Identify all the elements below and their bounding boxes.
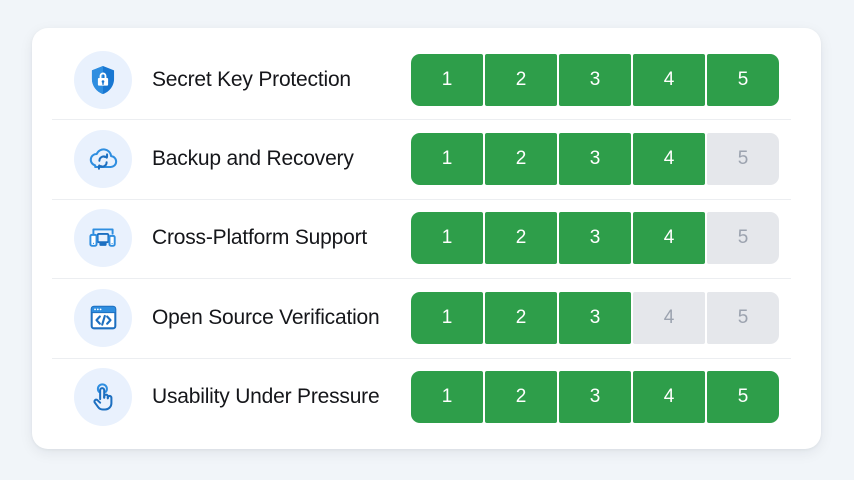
criteria-label: Open Source Verification xyxy=(152,306,411,330)
rating-scale: 12345 xyxy=(411,133,779,185)
rating-box[interactable]: 1 xyxy=(411,212,483,264)
rating-box[interactable]: 4 xyxy=(633,133,705,185)
rating-box[interactable]: 4 xyxy=(633,212,705,264)
rating-box[interactable]: 1 xyxy=(411,371,483,423)
rating-box[interactable]: 4 xyxy=(633,292,705,344)
rating-box[interactable]: 1 xyxy=(411,133,483,185)
criteria-label: Cross-Platform Support xyxy=(152,226,411,250)
rating-box[interactable]: 5 xyxy=(707,292,779,344)
rating-box[interactable]: 4 xyxy=(633,371,705,423)
criteria-label: Usability Under Pressure xyxy=(152,385,411,409)
rating-scale: 12345 xyxy=(411,292,779,344)
rating-box[interactable]: 2 xyxy=(485,54,557,106)
rating-box[interactable]: 3 xyxy=(559,292,631,344)
criteria-label: Secret Key Protection xyxy=(152,68,411,92)
code-window-icon xyxy=(74,289,132,347)
rating-box[interactable]: 5 xyxy=(707,54,779,106)
page-background: Secret Key Protection12345 Backup and Re… xyxy=(0,0,854,480)
rating-box[interactable]: 5 xyxy=(707,371,779,423)
criteria-rating-card: Secret Key Protection12345 Backup and Re… xyxy=(32,28,821,449)
cloud-sync-icon xyxy=(74,130,132,188)
rating-scale: 12345 xyxy=(411,371,779,423)
rating-scale: 12345 xyxy=(411,54,779,106)
rating-box[interactable]: 5 xyxy=(707,133,779,185)
hand-tap-icon xyxy=(74,368,132,426)
rating-box[interactable]: 5 xyxy=(707,212,779,264)
rating-box[interactable]: 3 xyxy=(559,371,631,423)
rating-box[interactable]: 3 xyxy=(559,54,631,106)
criteria-row: Usability Under Pressure12345 xyxy=(52,358,801,437)
criteria-label: Backup and Recovery xyxy=(152,147,411,171)
multi-device-icon xyxy=(74,209,132,267)
rating-box[interactable]: 1 xyxy=(411,54,483,106)
criteria-row: Backup and Recovery12345 xyxy=(52,119,801,198)
rating-box[interactable]: 2 xyxy=(485,292,557,344)
rating-box[interactable]: 2 xyxy=(485,371,557,423)
rating-box[interactable]: 1 xyxy=(411,292,483,344)
rating-box[interactable]: 3 xyxy=(559,212,631,264)
criteria-row: Cross-Platform Support12345 xyxy=(52,199,801,278)
rating-box[interactable]: 3 xyxy=(559,133,631,185)
rating-box[interactable]: 2 xyxy=(485,212,557,264)
criteria-row: Open Source Verification12345 xyxy=(52,278,801,357)
rating-scale: 12345 xyxy=(411,212,779,264)
shield-lock-icon xyxy=(74,51,132,109)
rating-box[interactable]: 4 xyxy=(633,54,705,106)
rating-box[interactable]: 2 xyxy=(485,133,557,185)
criteria-row: Secret Key Protection12345 xyxy=(52,40,801,119)
